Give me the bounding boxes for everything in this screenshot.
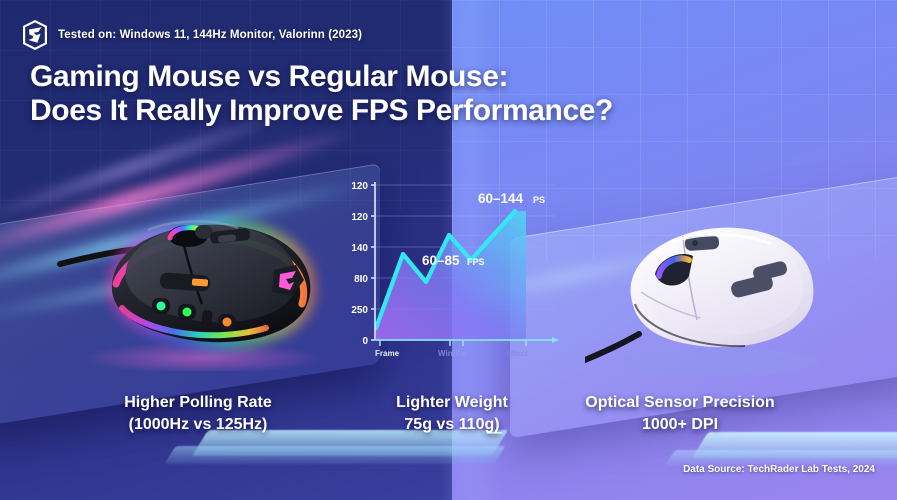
caption-3-line-2: 1000+ DPI: [560, 414, 800, 436]
caption-3-line-1: Optical Sensor Precision: [560, 392, 800, 414]
header-bar: Tested on: Windows 11, 144Hz Monitor, Va…: [22, 20, 362, 50]
caption-2-line-1: Lighter Weight: [352, 392, 552, 414]
data-source-label: Data Source: TechRader Lab Tests, 2024: [683, 464, 875, 475]
caption-optical-sensor: Optical Sensor Precision 1000+ DPI: [560, 392, 800, 436]
x-tick-label-1: Windlar: [438, 349, 467, 358]
y-tick-label-1: 120: [351, 212, 368, 223]
y-tick-label-0: 120: [351, 181, 368, 192]
title-line-2: Does It Really Improve FPS Performance?: [30, 94, 613, 128]
page-title: Gaming Mouse vs Regular Mouse: Does It R…: [30, 60, 613, 128]
hex-shield-g-logo-icon: [22, 20, 48, 50]
x-tick-label-0: Frame: [375, 349, 400, 358]
caption-polling-rate: Higher Polling Rate (1000Hz vs 125Hz): [88, 392, 308, 436]
annotation-1-unit: FPS: [467, 257, 485, 267]
infographic-canvas: Tested on: Windows 11, 144Hz Monitor, Va…: [0, 0, 897, 500]
chart-annotation-2: 60–144 PS: [478, 191, 545, 206]
fps-area-chart: 120 120 140 8I0 250 0 Frame Windlar nflo…: [330, 170, 565, 365]
annotation-2-unit: PS: [533, 195, 545, 205]
annotation-1-value: 60–85: [422, 253, 460, 268]
annotation-2-value: 60–144: [478, 191, 524, 206]
chart-x-axis-arrow: [552, 337, 558, 343]
caption-lighter-weight: Lighter Weight 75g vs 110g͟): [352, 392, 552, 436]
y-tick-label-5: 0: [362, 336, 368, 347]
tested-on-label: Tested on: Windows 11, 144Hz Monitor, Va…: [58, 29, 362, 41]
chart-area-fill: [376, 211, 526, 340]
caption-1-line-2: (1000Hz vs 125Hz): [88, 414, 308, 436]
x-tick-label-2: nfloct: [506, 349, 528, 358]
y-tick-label-3: 8I0: [354, 274, 368, 285]
y-tick-label-2: 140: [351, 243, 368, 254]
y-tick-label-4: 250: [351, 305, 368, 316]
chart-area-series: [376, 211, 526, 340]
caption-1-line-1: Higher Polling Rate: [88, 392, 308, 414]
title-line-1: Gaming Mouse vs Regular Mouse:: [30, 60, 613, 94]
regular-mouse-white: [585, 200, 845, 380]
caption-2-line-2: 75g vs 110g͟): [352, 414, 552, 436]
gaming-mouse-black-rgb: [52, 186, 342, 371]
